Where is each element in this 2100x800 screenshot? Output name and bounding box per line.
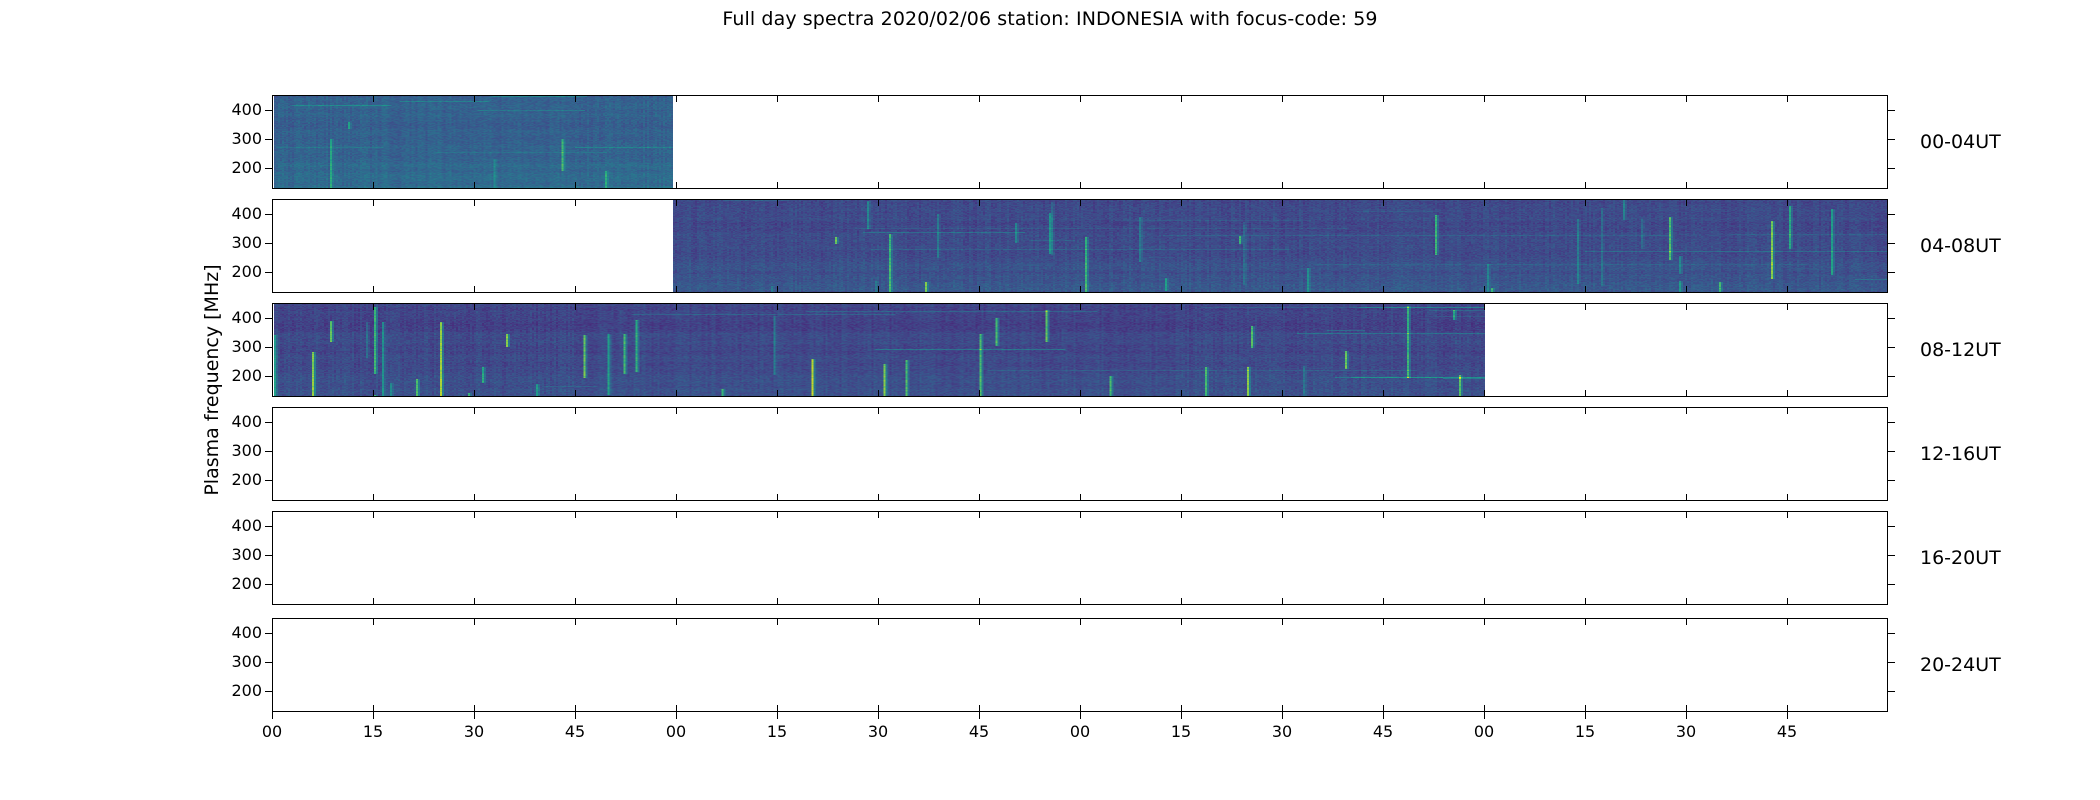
- x-tick-mark-minor: [777, 494, 778, 501]
- x-tick-mark-minor: [979, 286, 980, 293]
- x-tick-mark-minor: [1080, 182, 1081, 189]
- y-tick-label: 300: [202, 547, 262, 563]
- y-tick-mark-right: [1888, 422, 1895, 423]
- y-tick-mark: [265, 110, 272, 111]
- x-tick-mark-minor: [878, 95, 879, 102]
- x-tick-mark-minor: [1585, 598, 1586, 605]
- x-tick-mark-minor: [1787, 390, 1788, 397]
- x-tick-mark-minor: [1787, 407, 1788, 414]
- y-tick-mark: [265, 526, 272, 527]
- y-tick-label: 300: [202, 443, 262, 459]
- x-tick-mark-minor: [1282, 199, 1283, 206]
- x-tick-mark-minor: [777, 705, 778, 712]
- x-tick-mark-minor: [1181, 598, 1182, 605]
- x-tick-mark-minor: [1080, 598, 1081, 605]
- x-tick-mark: [777, 712, 778, 719]
- x-tick-mark-minor: [676, 390, 677, 397]
- x-tick-mark-minor: [878, 511, 879, 518]
- x-tick-label: 45: [1767, 724, 1807, 740]
- y-tick-mark-right: [1888, 526, 1895, 527]
- x-tick-mark-minor: [1181, 303, 1182, 310]
- x-tick-mark: [1686, 712, 1687, 719]
- x-tick-mark-minor: [1585, 390, 1586, 397]
- x-tick-mark-minor: [474, 598, 475, 605]
- x-tick-mark-minor: [676, 598, 677, 605]
- x-tick-label: 30: [454, 724, 494, 740]
- x-tick-mark-minor: [1484, 494, 1485, 501]
- x-tick-mark-minor: [777, 182, 778, 189]
- y-tick-mark-right: [1888, 272, 1895, 273]
- x-tick-mark-minor: [1787, 705, 1788, 712]
- x-tick-mark-minor: [1080, 511, 1081, 518]
- x-tick-mark-minor: [1181, 199, 1182, 206]
- x-tick-mark-minor: [575, 705, 576, 712]
- x-tick-mark-minor: [878, 286, 879, 293]
- x-tick-mark-minor: [676, 705, 677, 712]
- x-tick-mark-minor: [878, 390, 879, 397]
- y-tick-mark-right: [1888, 318, 1895, 319]
- x-tick-mark-minor: [979, 407, 980, 414]
- x-tick-label: 00: [1464, 724, 1504, 740]
- x-tick-mark-minor: [373, 618, 374, 625]
- x-tick-mark-minor: [373, 95, 374, 102]
- spectrogram-row-08-12ut[interactable]: [272, 303, 1888, 397]
- x-tick-mark-minor: [1282, 598, 1283, 605]
- x-tick-mark-minor: [1585, 199, 1586, 206]
- x-tick-mark-minor: [676, 303, 677, 310]
- x-tick-mark-minor: [1181, 390, 1182, 397]
- y-tick-mark: [265, 376, 272, 377]
- x-tick-mark-minor: [1686, 390, 1687, 397]
- spectrogram-row-16-20ut[interactable]: [272, 511, 1888, 605]
- row-label-00-04ut: 00-04UT: [1920, 132, 2001, 152]
- y-tick-label: 200: [202, 576, 262, 592]
- x-tick-mark-minor: [979, 511, 980, 518]
- x-tick-mark-minor: [1383, 407, 1384, 414]
- x-tick-mark-minor: [1787, 182, 1788, 189]
- x-tick-mark-minor: [1181, 286, 1182, 293]
- x-tick-label: 15: [1565, 724, 1605, 740]
- x-tick-label: 30: [1262, 724, 1302, 740]
- x-tick-mark-minor: [474, 95, 475, 102]
- y-tick-mark-right: [1888, 139, 1895, 140]
- x-tick-mark-minor: [1282, 618, 1283, 625]
- y-tick-label: 200: [202, 264, 262, 280]
- x-tick-mark-minor: [979, 618, 980, 625]
- x-tick-mark-minor: [575, 511, 576, 518]
- y-tick-mark-right: [1888, 691, 1895, 692]
- x-tick-mark-minor: [575, 95, 576, 102]
- x-tick-label: 00: [1060, 724, 1100, 740]
- y-tick-label: 400: [202, 310, 262, 326]
- x-tick-mark-minor: [1585, 407, 1586, 414]
- spectrogram-row-20-24ut[interactable]: [272, 618, 1888, 712]
- y-tick-mark-right: [1888, 243, 1895, 244]
- x-tick-mark-minor: [474, 390, 475, 397]
- x-tick-mark-minor: [777, 511, 778, 518]
- x-tick-mark-minor: [1686, 407, 1687, 414]
- y-tick-label: 300: [202, 131, 262, 147]
- x-tick-mark-minor: [1080, 303, 1081, 310]
- x-tick-mark-minor: [1080, 95, 1081, 102]
- x-tick-mark-minor: [676, 494, 677, 501]
- y-tick-mark: [265, 691, 272, 692]
- y-tick-mark-right: [1888, 480, 1895, 481]
- x-tick-mark-minor: [474, 286, 475, 293]
- x-tick-mark: [1080, 712, 1081, 719]
- x-tick-mark-minor: [777, 407, 778, 414]
- y-tick-mark: [265, 584, 272, 585]
- x-tick-mark-minor: [373, 182, 374, 189]
- row-label-08-12ut: 08-12UT: [1920, 340, 2001, 360]
- x-tick-mark-minor: [1585, 95, 1586, 102]
- x-tick-mark-minor: [1484, 303, 1485, 310]
- x-tick-mark-minor: [1484, 618, 1485, 625]
- x-tick-mark-minor: [1686, 303, 1687, 310]
- x-tick-mark-minor: [1787, 303, 1788, 310]
- x-tick-mark-minor: [1484, 511, 1485, 518]
- y-tick-mark: [265, 272, 272, 273]
- x-tick-mark-minor: [1484, 598, 1485, 605]
- x-tick-mark-minor: [575, 182, 576, 189]
- x-tick-mark-minor: [1282, 494, 1283, 501]
- x-tick-mark: [1383, 712, 1384, 719]
- row-label-12-16ut: 12-16UT: [1920, 444, 2001, 464]
- x-tick-mark-minor: [1686, 95, 1687, 102]
- x-tick-mark-minor: [1686, 199, 1687, 206]
- y-tick-label: 400: [202, 102, 262, 118]
- y-tick-mark-right: [1888, 214, 1895, 215]
- x-tick-mark-minor: [1282, 390, 1283, 397]
- x-tick-mark-minor: [575, 618, 576, 625]
- x-tick-mark-minor: [1080, 705, 1081, 712]
- x-tick-mark-minor: [676, 511, 677, 518]
- x-tick-mark-minor: [474, 407, 475, 414]
- x-tick-mark-minor: [676, 618, 677, 625]
- x-tick-mark-minor: [878, 494, 879, 501]
- y-tick-mark: [265, 214, 272, 215]
- y-tick-mark-right: [1888, 376, 1895, 377]
- x-tick-mark: [373, 712, 374, 719]
- y-tick-mark-right: [1888, 584, 1895, 585]
- x-tick-mark-minor: [373, 303, 374, 310]
- x-tick-mark-minor: [575, 199, 576, 206]
- x-tick-mark-minor: [373, 494, 374, 501]
- x-tick-mark-minor: [777, 95, 778, 102]
- page-title: Full day spectra 2020/02/06 station: IND…: [0, 8, 2100, 30]
- y-tick-label: 300: [202, 235, 262, 251]
- x-tick-mark-minor: [777, 199, 778, 206]
- spectrogram-row-00-04ut[interactable]: [272, 95, 1888, 189]
- x-tick-mark-minor: [575, 598, 576, 605]
- x-tick-label: 00: [656, 724, 696, 740]
- x-tick-mark: [1585, 712, 1586, 719]
- x-tick-mark-minor: [1686, 494, 1687, 501]
- y-tick-mark: [265, 139, 272, 140]
- x-tick-mark-minor: [1686, 511, 1687, 518]
- row-label-16-20ut: 16-20UT: [1920, 548, 2001, 568]
- x-tick-mark-minor: [1787, 598, 1788, 605]
- x-tick-mark: [575, 712, 576, 719]
- y-tick-mark-right: [1888, 168, 1895, 169]
- y-tick-label: 400: [202, 206, 262, 222]
- x-tick-mark-minor: [1282, 407, 1283, 414]
- x-tick-mark-minor: [1787, 511, 1788, 518]
- x-tick-mark-minor: [878, 598, 879, 605]
- x-tick-mark-minor: [575, 390, 576, 397]
- x-tick-mark-minor: [373, 598, 374, 605]
- y-tick-mark: [265, 633, 272, 634]
- spectrogram-image: [274, 96, 673, 188]
- x-tick-mark-minor: [777, 618, 778, 625]
- x-tick-mark-minor: [1686, 618, 1687, 625]
- x-tick-mark-minor: [1282, 95, 1283, 102]
- x-tick-mark-minor: [373, 390, 374, 397]
- x-tick-label: 45: [959, 724, 999, 740]
- x-tick-mark-minor: [1181, 95, 1182, 102]
- x-tick-mark-minor: [1383, 95, 1384, 102]
- x-tick-mark-minor: [1383, 618, 1384, 625]
- x-tick-mark-minor: [1383, 303, 1384, 310]
- y-tick-mark-right: [1888, 451, 1895, 452]
- x-tick-mark-minor: [1787, 494, 1788, 501]
- x-tick-mark-minor: [676, 407, 677, 414]
- x-tick-mark-minor: [979, 390, 980, 397]
- x-tick-label: 15: [353, 724, 393, 740]
- x-tick-mark-minor: [575, 407, 576, 414]
- x-tick-mark-minor: [1787, 618, 1788, 625]
- x-tick-mark-minor: [979, 494, 980, 501]
- y-tick-label: 300: [202, 339, 262, 355]
- x-tick-mark-minor: [676, 286, 677, 293]
- x-tick-mark-minor: [1686, 286, 1687, 293]
- y-tick-mark: [265, 347, 272, 348]
- x-tick-mark-minor: [1181, 618, 1182, 625]
- x-tick-mark-minor: [878, 705, 879, 712]
- x-tick-mark-minor: [1585, 286, 1586, 293]
- x-tick-mark-minor: [474, 199, 475, 206]
- spectrogram-row-12-16ut[interactable]: [272, 407, 1888, 501]
- spectrogram-image: [673, 200, 1887, 292]
- x-tick-label: 45: [555, 724, 595, 740]
- x-tick-mark-minor: [1282, 182, 1283, 189]
- x-tick-mark-minor: [1383, 182, 1384, 189]
- y-tick-label: 200: [202, 160, 262, 176]
- x-tick-mark-minor: [1282, 303, 1283, 310]
- x-tick-mark-minor: [474, 705, 475, 712]
- x-tick-mark-minor: [1787, 199, 1788, 206]
- spectrogram-row-04-08ut[interactable]: [272, 199, 1888, 293]
- x-tick-mark-minor: [1686, 598, 1687, 605]
- x-tick-mark-minor: [1181, 407, 1182, 414]
- x-tick-mark-minor: [1686, 705, 1687, 712]
- x-tick-mark-minor: [1585, 182, 1586, 189]
- x-tick-label: 00: [252, 724, 292, 740]
- y-tick-label: 400: [202, 625, 262, 641]
- y-tick-label: 300: [202, 654, 262, 670]
- y-tick-label: 400: [202, 518, 262, 534]
- x-tick-label: 15: [1161, 724, 1201, 740]
- x-tick-mark-minor: [878, 199, 879, 206]
- x-tick-mark-minor: [1080, 390, 1081, 397]
- x-tick-mark-minor: [777, 286, 778, 293]
- x-tick-mark-minor: [1787, 286, 1788, 293]
- y-tick-mark-right: [1888, 555, 1895, 556]
- x-tick-label: 30: [858, 724, 898, 740]
- x-tick-mark-minor: [1585, 303, 1586, 310]
- x-tick-mark-minor: [1383, 286, 1384, 293]
- x-tick-mark-minor: [1585, 494, 1586, 501]
- y-tick-mark: [265, 168, 272, 169]
- x-tick-mark-minor: [676, 182, 677, 189]
- x-tick-label: 15: [757, 724, 797, 740]
- x-tick-mark-minor: [474, 511, 475, 518]
- x-tick-mark-minor: [373, 407, 374, 414]
- x-tick-mark-minor: [979, 598, 980, 605]
- x-tick-mark-minor: [777, 303, 778, 310]
- x-tick-mark-minor: [373, 286, 374, 293]
- x-tick-mark: [979, 712, 980, 719]
- x-tick-mark-minor: [1383, 598, 1384, 605]
- x-tick-mark: [676, 712, 677, 719]
- x-tick-mark-minor: [979, 199, 980, 206]
- x-tick-mark-minor: [1181, 182, 1182, 189]
- y-tick-mark: [265, 318, 272, 319]
- x-tick-mark-minor: [1282, 705, 1283, 712]
- x-tick-mark-minor: [1181, 511, 1182, 518]
- x-tick-label: 30: [1666, 724, 1706, 740]
- x-tick-mark-minor: [1383, 705, 1384, 712]
- x-tick-label: 45: [1363, 724, 1403, 740]
- x-tick-mark: [1282, 712, 1283, 719]
- x-tick-mark-minor: [1585, 705, 1586, 712]
- x-tick-mark-minor: [979, 303, 980, 310]
- y-tick-mark: [265, 243, 272, 244]
- spectrogram-image: [274, 304, 1485, 396]
- x-tick-mark-minor: [1787, 95, 1788, 102]
- y-tick-mark: [265, 451, 272, 452]
- y-tick-mark: [265, 555, 272, 556]
- x-tick-mark-minor: [1585, 511, 1586, 518]
- y-tick-label: 200: [202, 683, 262, 699]
- x-tick-mark-minor: [878, 407, 879, 414]
- x-tick-mark-minor: [1383, 390, 1384, 397]
- x-tick-mark-minor: [474, 303, 475, 310]
- y-tick-label: 200: [202, 368, 262, 384]
- x-tick-mark-minor: [1585, 618, 1586, 625]
- x-tick-mark-minor: [676, 199, 677, 206]
- y-tick-mark: [265, 662, 272, 663]
- x-tick-mark: [878, 712, 879, 719]
- y-tick-mark-right: [1888, 662, 1895, 663]
- x-tick-mark-minor: [1484, 182, 1485, 189]
- x-tick-mark-minor: [1484, 705, 1485, 712]
- row-label-04-08ut: 04-08UT: [1920, 236, 2001, 256]
- x-tick-mark-minor: [373, 511, 374, 518]
- x-tick-mark: [474, 712, 475, 719]
- x-tick-mark-minor: [1282, 511, 1283, 518]
- x-tick-mark-minor: [1484, 95, 1485, 102]
- x-tick-mark-minor: [373, 199, 374, 206]
- x-tick-mark-minor: [474, 182, 475, 189]
- x-tick-mark-minor: [1484, 286, 1485, 293]
- y-tick-label: 400: [202, 414, 262, 430]
- x-tick-mark-minor: [878, 618, 879, 625]
- x-tick-mark-minor: [575, 286, 576, 293]
- x-tick-mark-minor: [878, 182, 879, 189]
- y-tick-label: 200: [202, 472, 262, 488]
- x-tick-mark-minor: [575, 494, 576, 501]
- x-tick-mark-minor: [1383, 199, 1384, 206]
- x-tick-mark-minor: [979, 705, 980, 712]
- y-tick-mark-right: [1888, 633, 1895, 634]
- x-tick-mark: [272, 712, 273, 719]
- x-tick-mark-minor: [1181, 705, 1182, 712]
- x-tick-mark-minor: [474, 618, 475, 625]
- x-tick-mark-minor: [1383, 511, 1384, 518]
- x-tick-mark-minor: [1080, 407, 1081, 414]
- x-tick-mark: [1181, 712, 1182, 719]
- x-tick-mark-minor: [1181, 494, 1182, 501]
- x-tick-mark-minor: [1686, 182, 1687, 189]
- y-tick-mark: [265, 480, 272, 481]
- x-tick-mark-minor: [676, 95, 677, 102]
- x-tick-mark-minor: [777, 390, 778, 397]
- row-label-20-24ut: 20-24UT: [1920, 655, 2001, 675]
- x-tick-mark: [1484, 712, 1485, 719]
- x-tick-mark-minor: [777, 598, 778, 605]
- x-tick-mark-minor: [1383, 494, 1384, 501]
- x-tick-mark-minor: [1484, 407, 1485, 414]
- y-tick-mark: [265, 422, 272, 423]
- x-tick-mark-minor: [1080, 494, 1081, 501]
- x-tick-mark: [1787, 712, 1788, 719]
- x-tick-mark-minor: [979, 95, 980, 102]
- x-tick-mark-minor: [878, 303, 879, 310]
- x-tick-mark-minor: [575, 303, 576, 310]
- x-tick-mark-minor: [1080, 618, 1081, 625]
- x-tick-mark-minor: [373, 705, 374, 712]
- x-tick-mark-minor: [1080, 286, 1081, 293]
- x-tick-mark-minor: [1080, 199, 1081, 206]
- x-tick-mark-minor: [1484, 199, 1485, 206]
- y-tick-mark-right: [1888, 347, 1895, 348]
- x-tick-mark-minor: [979, 182, 980, 189]
- y-tick-mark-right: [1888, 110, 1895, 111]
- x-tick-mark-minor: [1484, 390, 1485, 397]
- spectrogram-figure: Full day spectra 2020/02/06 station: IND…: [0, 0, 2100, 800]
- x-tick-mark-minor: [1282, 286, 1283, 293]
- x-tick-mark-minor: [474, 494, 475, 501]
